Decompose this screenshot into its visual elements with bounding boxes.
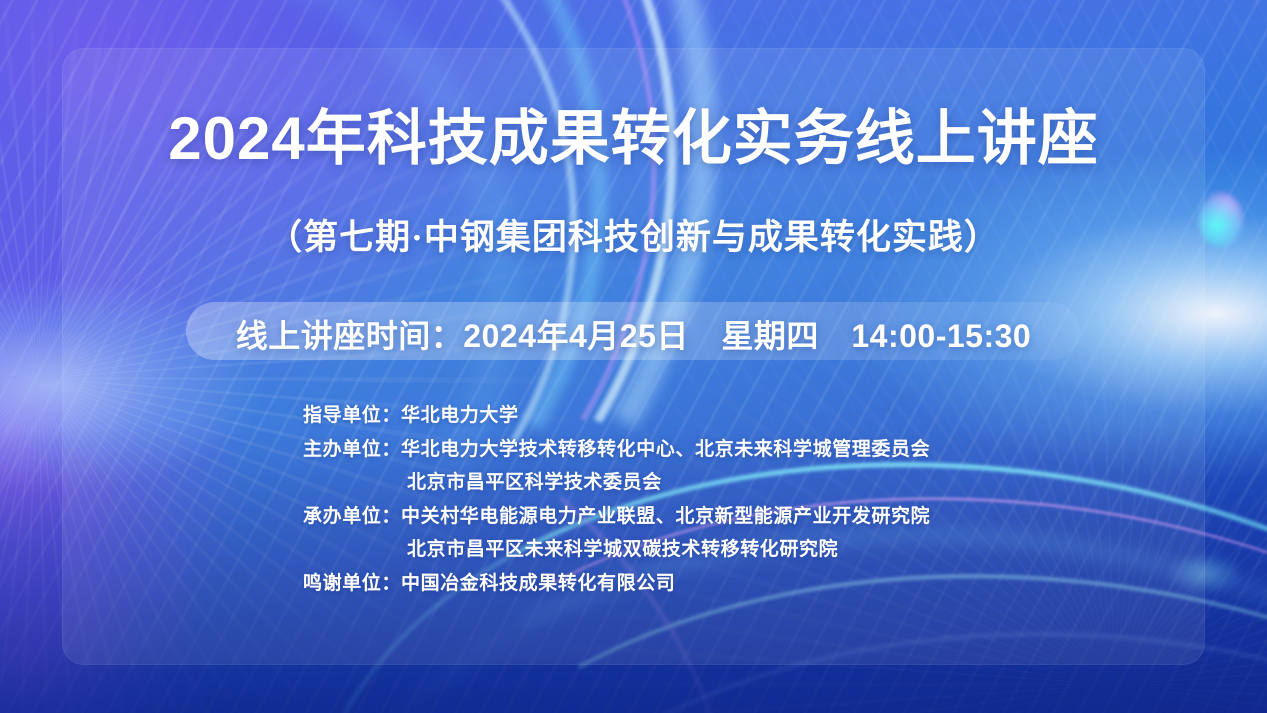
poster-canvas: 2024年科技成果转化实务线上讲座 （第七期·中钢集团科技创新与成果转化实践） …	[0, 0, 1267, 713]
lecture-time-text: 线上讲座时间：2024年4月25日 星期四 14:00-15:30	[0, 311, 1267, 357]
list-item: 主办单位：华北电力大学技术转移转化中心、北京未来科学城管理委员会	[303, 433, 930, 467]
poster-main-title: 2024年科技成果转化实务线上讲座	[0, 104, 1267, 173]
list-item: 鸣谢单位：中国冶金科技成果转化有限公司	[303, 567, 930, 601]
organizer-list: 指导单位：华北电力大学 主办单位：华北电力大学技术转移转化中心、北京未来科学城管…	[303, 399, 930, 600]
list-item: 北京市昌平区未来科学城双碳技术转移转化研究院	[303, 533, 930, 567]
list-item: 指导单位：华北电力大学	[303, 399, 930, 433]
list-item: 承办单位：中关村华电能源电力产业联盟、北京新型能源产业开发研究院	[303, 500, 930, 534]
poster-content: 2024年科技成果转化实务线上讲座 （第七期·中钢集团科技创新与成果转化实践） …	[0, 0, 1267, 713]
poster-subtitle: （第七期·中钢集团科技创新与成果转化实践）	[0, 209, 1267, 260]
list-item: 北京市昌平区科学技术委员会	[303, 466, 930, 500]
